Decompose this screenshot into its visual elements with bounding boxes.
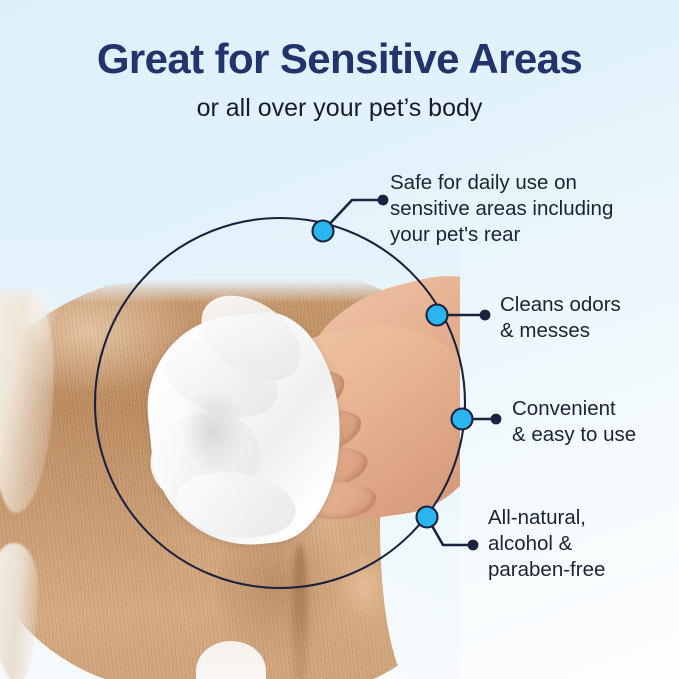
callout-all-natural: All-natural, alcohol & paraben-free: [488, 505, 605, 582]
leader-endpoint-dot: [480, 310, 491, 321]
page-title: Great for Sensitive Areas: [0, 0, 679, 81]
product-photo: [0, 243, 460, 679]
leader-endpoint-dot: [468, 540, 479, 551]
wipe-shading: [168, 371, 258, 491]
marker-sensitive-areas[interactable]: [313, 221, 334, 242]
dog-leg-seam: [292, 543, 308, 679]
leader-endpoint-dot: [491, 414, 502, 425]
callout-sensitive-areas: Safe for daily use on sensitive areas in…: [390, 170, 613, 247]
page-subtitle: or all over your pet’s body: [0, 81, 679, 123]
leader-endpoint-dot: [378, 195, 389, 206]
callout-cleans-odors: Cleans odors & messes: [500, 292, 621, 344]
promo-graphic: Great for Sensitive Areas or all over yo…: [0, 0, 679, 679]
callout-convenient: Convenient & easy to use: [512, 396, 636, 448]
dog-white-patch-lower: [0, 543, 38, 679]
leader-line-sensitive-areas: [323, 200, 382, 231]
header-block: Great for Sensitive Areas or all over yo…: [0, 0, 679, 122]
